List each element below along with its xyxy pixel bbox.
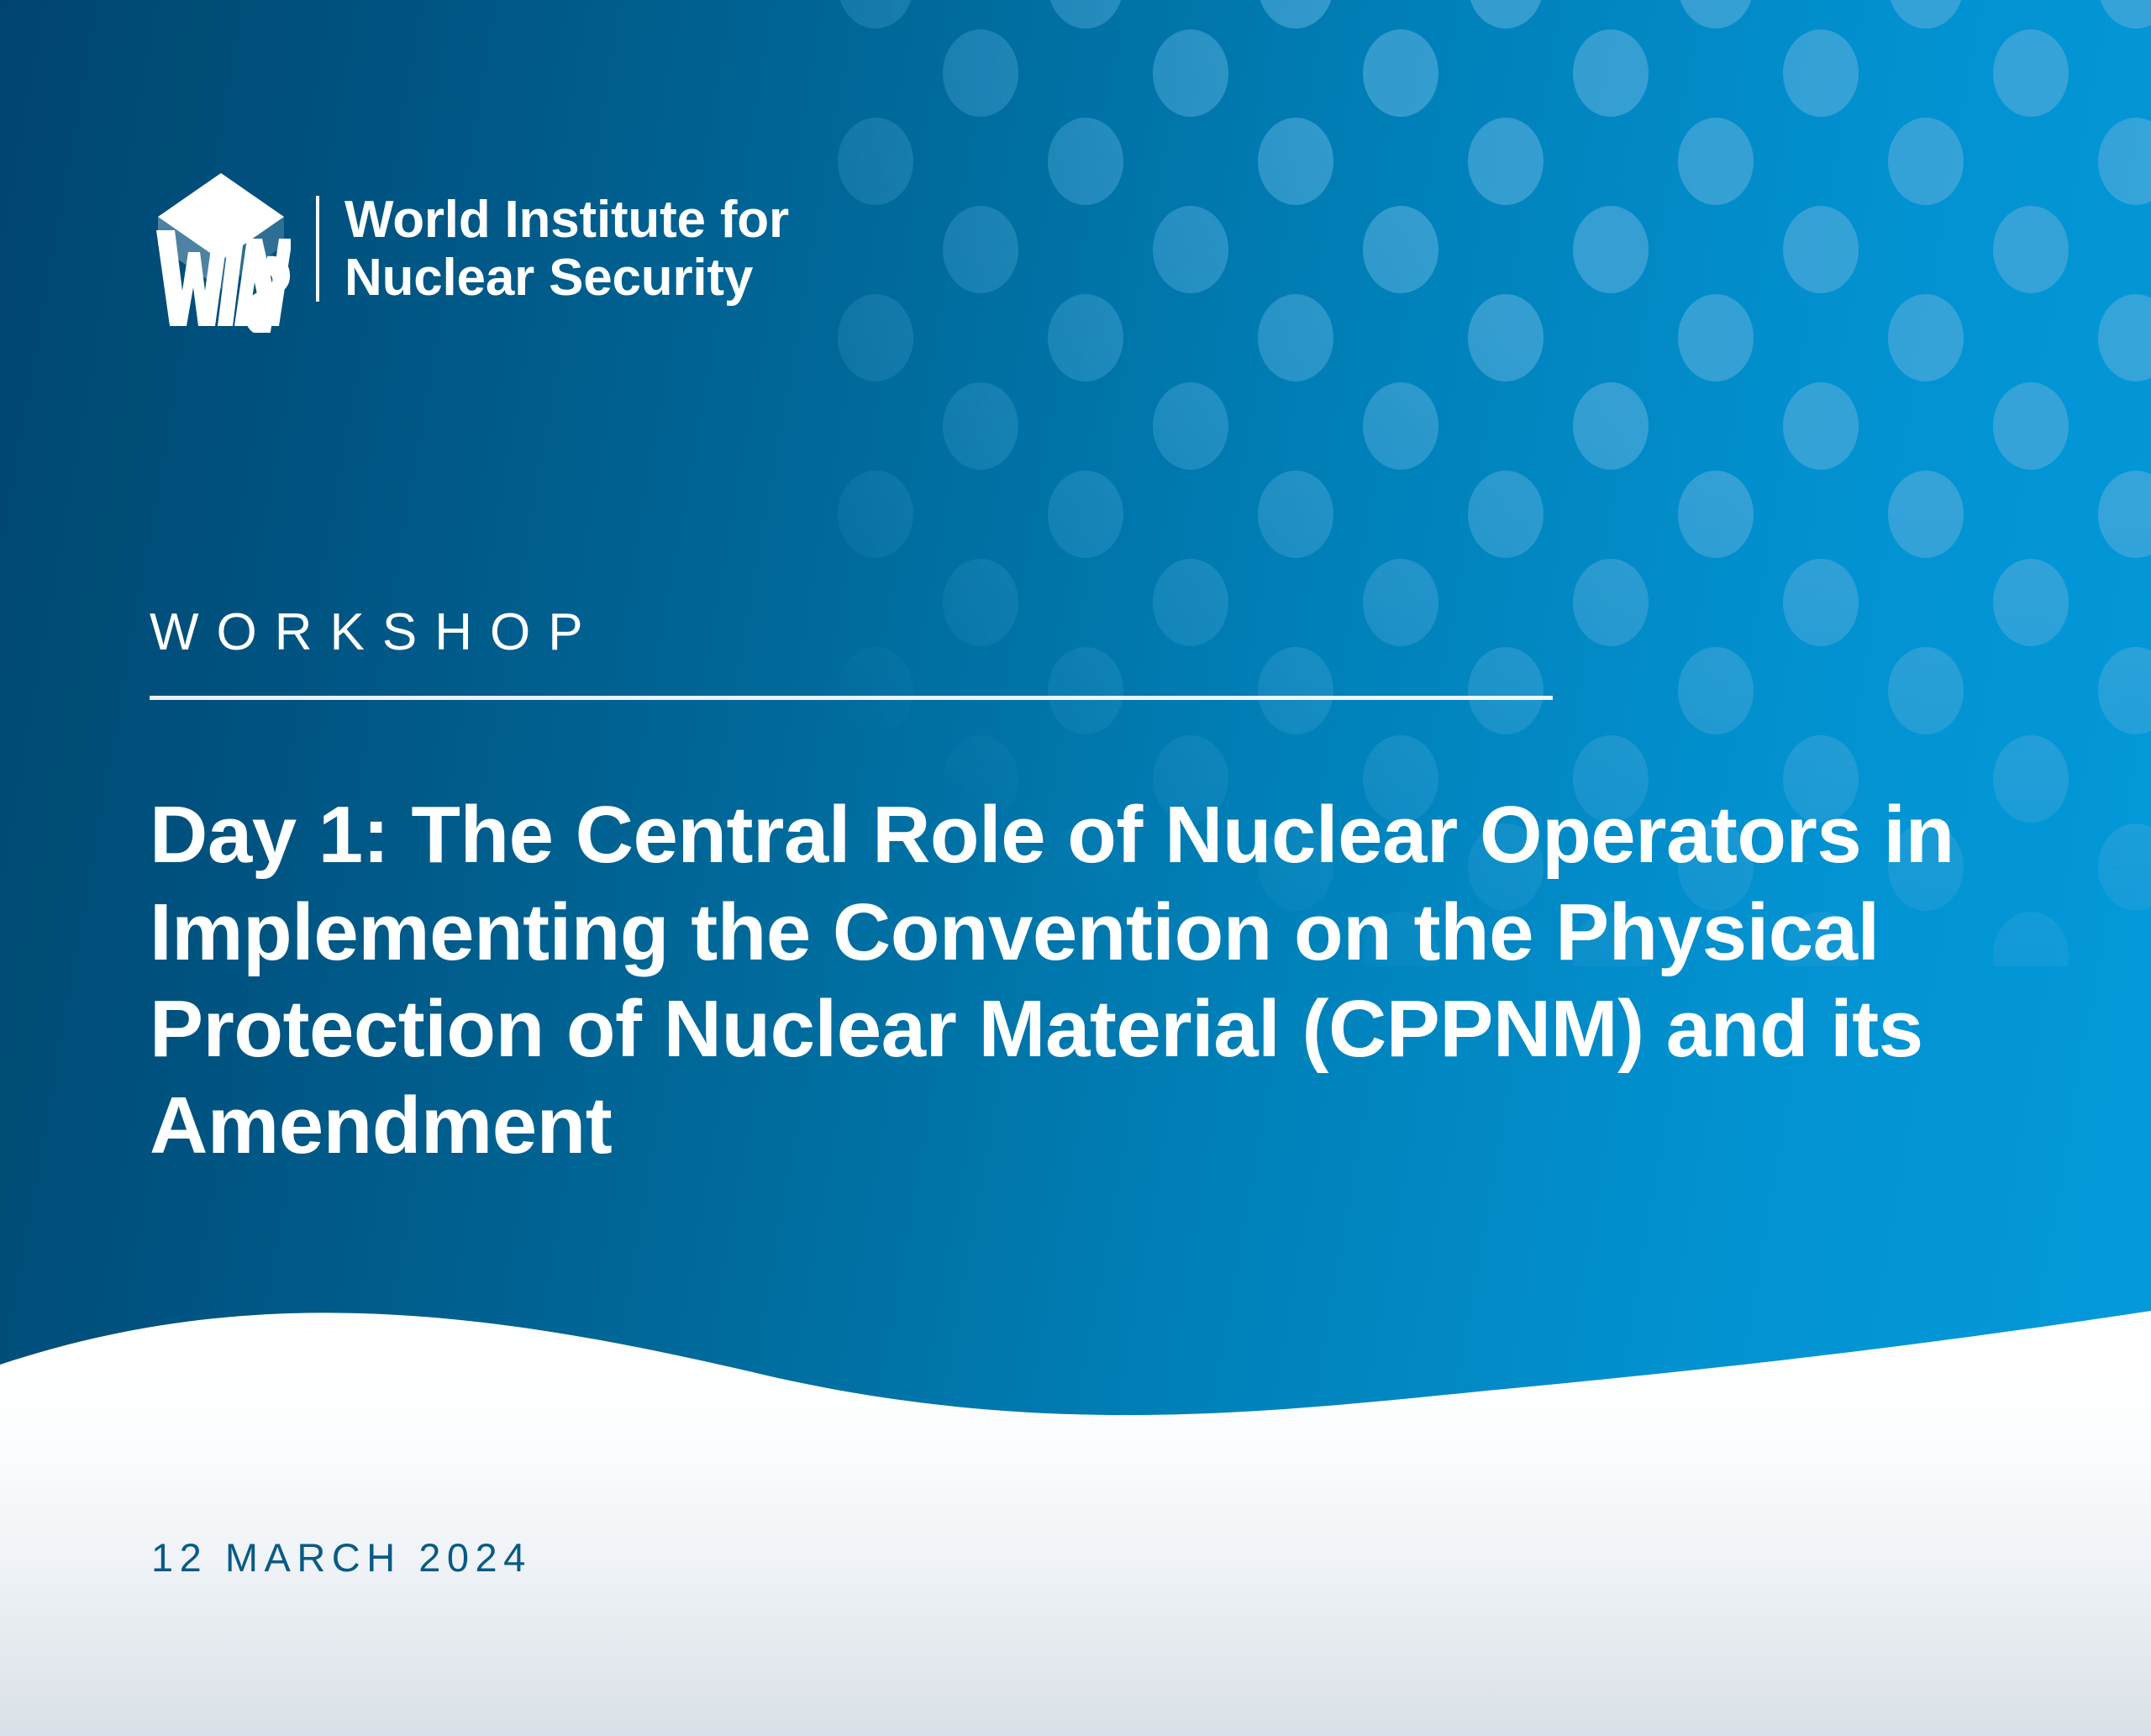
title-slide: World Institute for Nuclear Security WOR… bbox=[0, 0, 2151, 1736]
eyebrow: WORKSHOP bbox=[150, 607, 1561, 700]
slide-date: 12 MARCH 2024 bbox=[151, 1534, 532, 1581]
eyebrow-rule bbox=[150, 696, 1553, 700]
logo-wordmark-line2: Nuclear Security bbox=[344, 249, 789, 307]
logo-divider bbox=[316, 196, 319, 302]
wins-logo: World Institute for Nuclear Security bbox=[151, 165, 789, 333]
logo-wordmark-line1: World Institute for bbox=[344, 191, 789, 249]
logo-wordmark: World Institute for Nuclear Security bbox=[344, 191, 789, 308]
wins-cube-icon bbox=[151, 165, 291, 333]
eyebrow-label: WORKSHOP bbox=[150, 607, 1561, 659]
wave-decoration bbox=[0, 1299, 2151, 1736]
page-title: Day 1: The Central Role of Nuclear Opera… bbox=[150, 786, 1981, 1174]
